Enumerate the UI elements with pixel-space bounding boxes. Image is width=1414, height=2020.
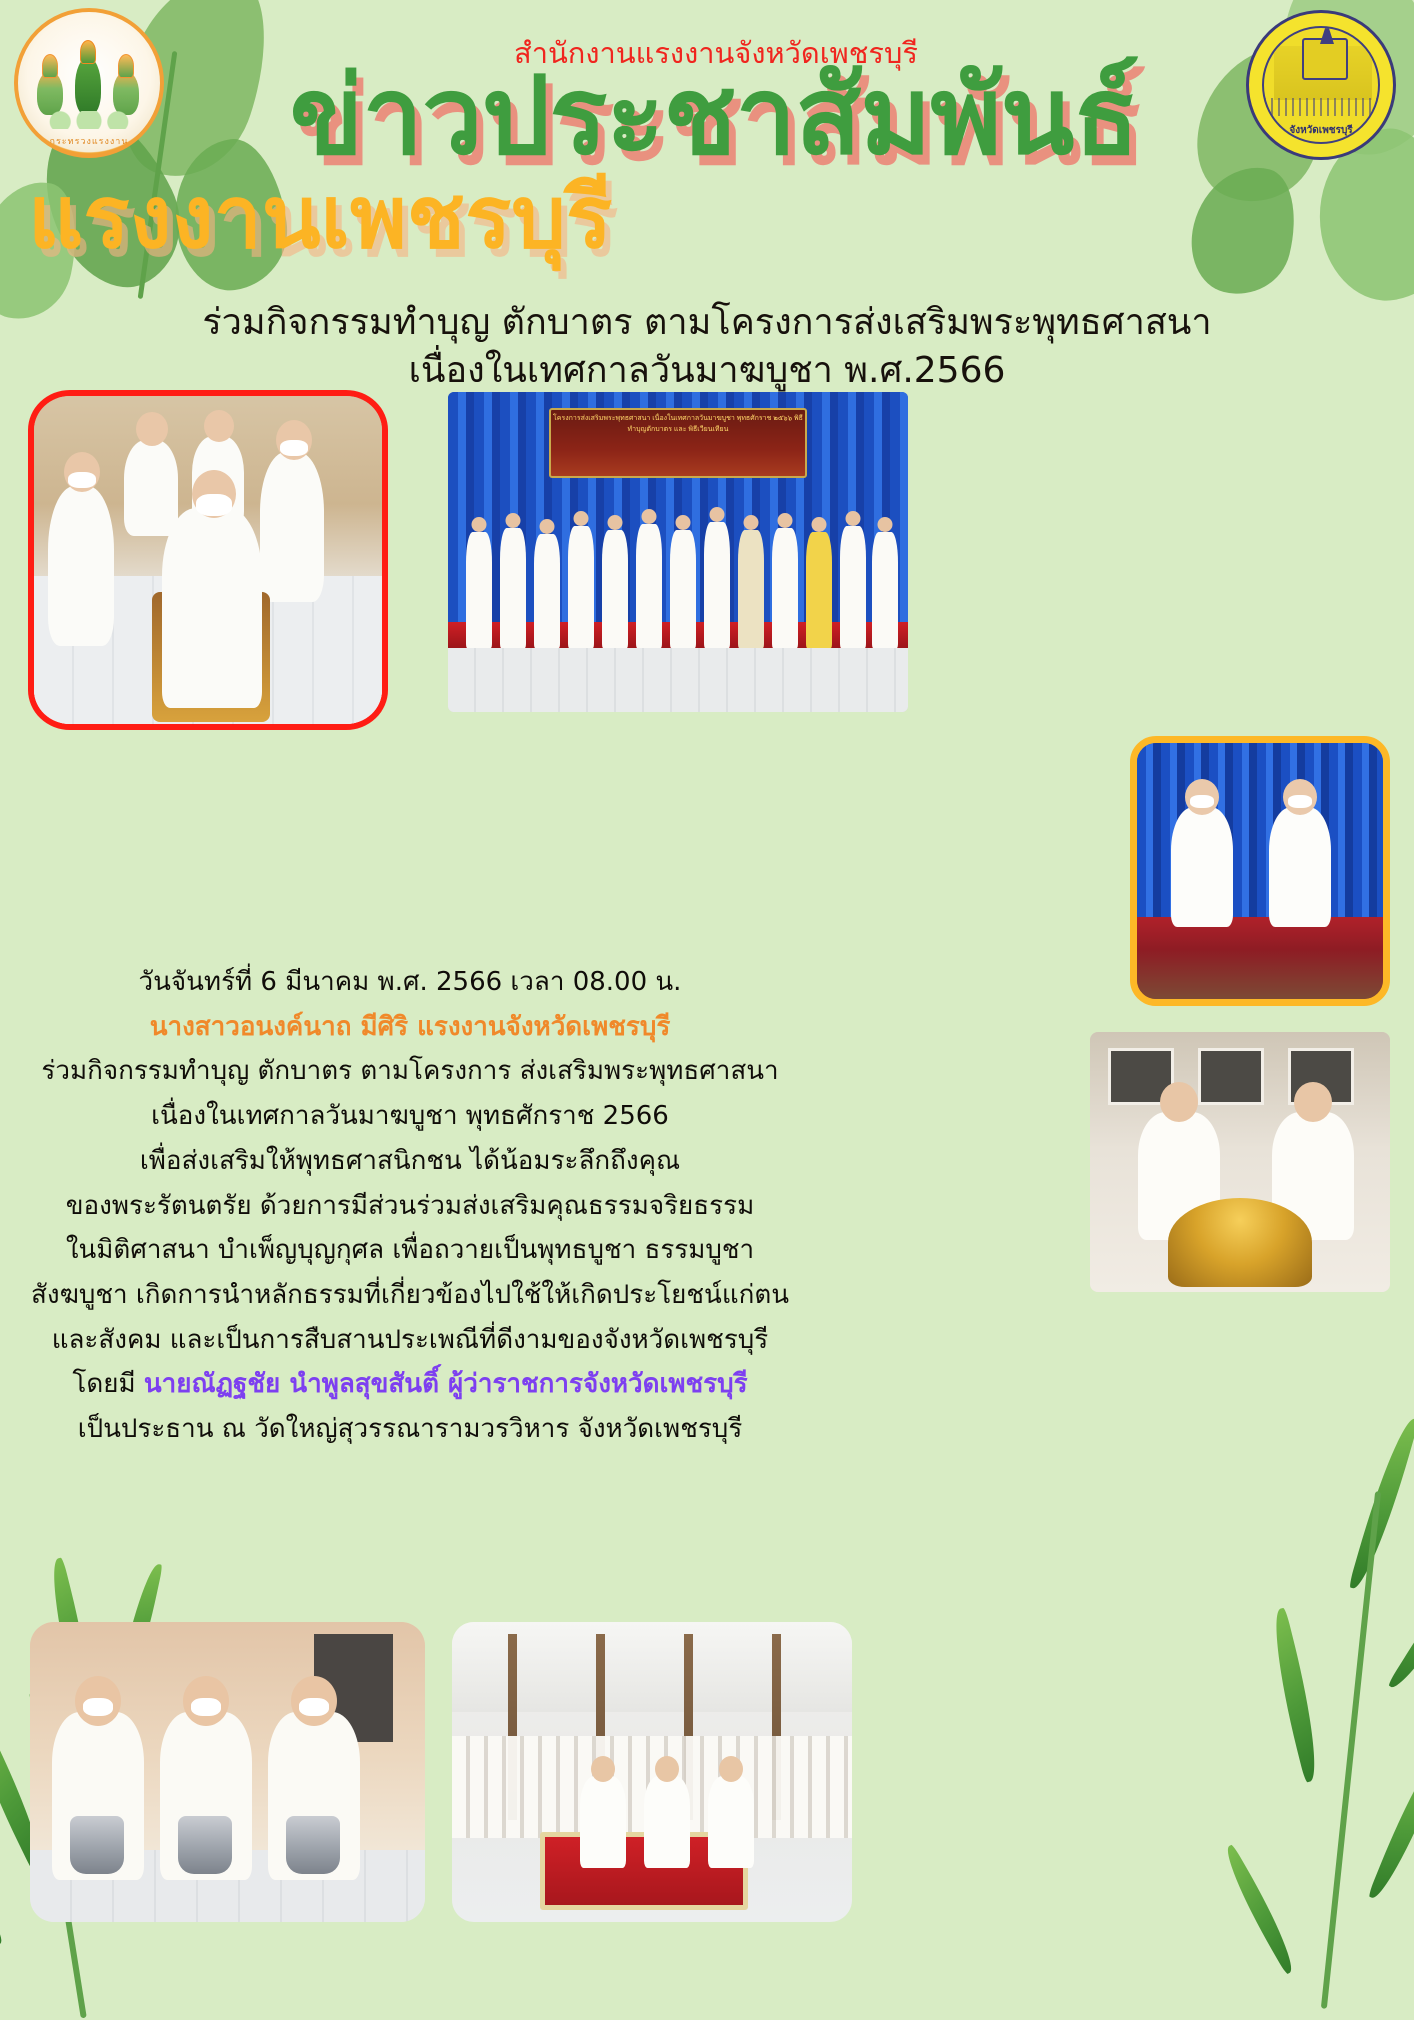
group-member xyxy=(872,532,898,648)
foliage-bottom-right xyxy=(1144,1450,1414,2010)
group-member xyxy=(670,530,696,648)
governor-figure xyxy=(162,508,262,708)
page-subtitle: แรงงานเพชรบุรี xyxy=(28,175,612,261)
body-line-officer: นางสาวอนงค์นาถ มีศิริ แรงงานจังหวัดเพชรบ… xyxy=(0,1005,820,1050)
page-title: ข่าวประชาสัมพันธ์ xyxy=(0,62,1414,172)
tiled-floor xyxy=(448,648,908,712)
vip-seated-right xyxy=(708,1776,754,1868)
seated-woman-right xyxy=(1269,807,1331,927)
photo-ceremony-chair xyxy=(28,390,388,730)
body-line-date: วันจันทร์ที่ 6 มีนาคม พ.ศ. 2566 เวลา 08.… xyxy=(0,960,820,1005)
attendee-back-left-head xyxy=(136,412,168,446)
vip-seated-center xyxy=(644,1776,690,1868)
event-subtitle-line-1: ร่วมกิจกรรมทำบุญ ตักบาตร ตามโครงการส่งเส… xyxy=(0,300,1414,345)
event-banner: โครงการส่งเสริมพระพุทธศาสนา เนื่องในเทศก… xyxy=(549,408,807,478)
group-member xyxy=(568,526,594,648)
window-center xyxy=(1198,1048,1264,1105)
governor-prefix: โดยมี xyxy=(72,1369,144,1399)
alms-bowl-2 xyxy=(178,1816,232,1874)
attendee-left-mask xyxy=(68,472,96,488)
governor-name: นายณัฏฐชัย นำพูลสุขสันติ์ ผู้ว่าราชการจั… xyxy=(144,1369,748,1399)
photo-gilded-chair xyxy=(1090,1032,1390,1292)
group-member xyxy=(840,526,866,648)
body-line-governor: โดยมี นายณัฏฐชัย นำพูลสุขสันติ์ ผู้ว่ารา… xyxy=(0,1362,820,1407)
body-line-purpose-2: ของพระรัตนตรัย ด้วยการมีส่วนร่วมส่งเสริม… xyxy=(0,1184,820,1229)
group-member xyxy=(806,532,832,648)
photo-hall-congregation xyxy=(452,1622,852,1922)
body-line-purpose-4: สังฆบูชา เกิดการนำหลักธรรมที่เกี่ยวข้องไ… xyxy=(0,1273,820,1318)
alms-bowl-3 xyxy=(286,1816,340,1874)
attendee-left xyxy=(48,486,114,646)
photo-group-banner: โครงการส่งเสริมพระพุทธศาสนา เนื่องในเทศก… xyxy=(448,392,908,712)
event-subtitle-line-2: เนื่องในเทศกาลวันมาฆบูชา พ.ศ.2566 xyxy=(0,348,1414,393)
body-line-activity: ร่วมกิจกรรมทำบุญ ตักบาตร ตามโครงการ ส่งเ… xyxy=(0,1049,820,1094)
photo-two-women xyxy=(1130,736,1390,1006)
group-member xyxy=(466,532,492,648)
attendee-back-mid-head xyxy=(204,410,234,442)
attendee-right xyxy=(260,452,324,602)
seated-woman-left xyxy=(1171,807,1233,927)
body-line-venue: เป็นประธาน ณ วัดใหญ่สุวรรณารามวรวิหาร จั… xyxy=(0,1407,820,1452)
group-member xyxy=(534,534,560,648)
group-member xyxy=(772,528,798,648)
vip-seated-left xyxy=(580,1776,626,1868)
group-member xyxy=(500,528,526,648)
group-member xyxy=(636,524,662,648)
red-dais xyxy=(1137,917,1383,999)
attendee-right-mask xyxy=(280,440,308,456)
photo-alms-bowls xyxy=(30,1622,425,1922)
body-line-purpose-1: เพื่อส่งเสริมให้พุทธศาสนิกชน ได้น้อมระลึ… xyxy=(0,1139,820,1184)
gilded-chair-ornament xyxy=(1168,1198,1312,1286)
alms-bowl-1 xyxy=(70,1816,124,1874)
group-member xyxy=(704,522,730,648)
body-line-festival: เนื่องในเทศกาลวันมาฆบูชา พุทธศักราช 2566 xyxy=(0,1094,820,1139)
group-member xyxy=(602,530,628,648)
announcement-body: วันจันทร์ที่ 6 มีนาคม พ.ศ. 2566 เวลา 08.… xyxy=(0,960,820,1452)
attendee-back-left xyxy=(124,440,178,536)
body-line-purpose-5: และสังคม และเป็นการสืบสานประเพณีที่ดีงาม… xyxy=(0,1318,820,1363)
body-line-purpose-3: ในมิติศาสนา บำเพ็ญบุญกุศล เพื่อถวายเป็นพ… xyxy=(0,1228,820,1273)
governor-mask xyxy=(196,494,232,516)
group-member xyxy=(738,530,764,648)
